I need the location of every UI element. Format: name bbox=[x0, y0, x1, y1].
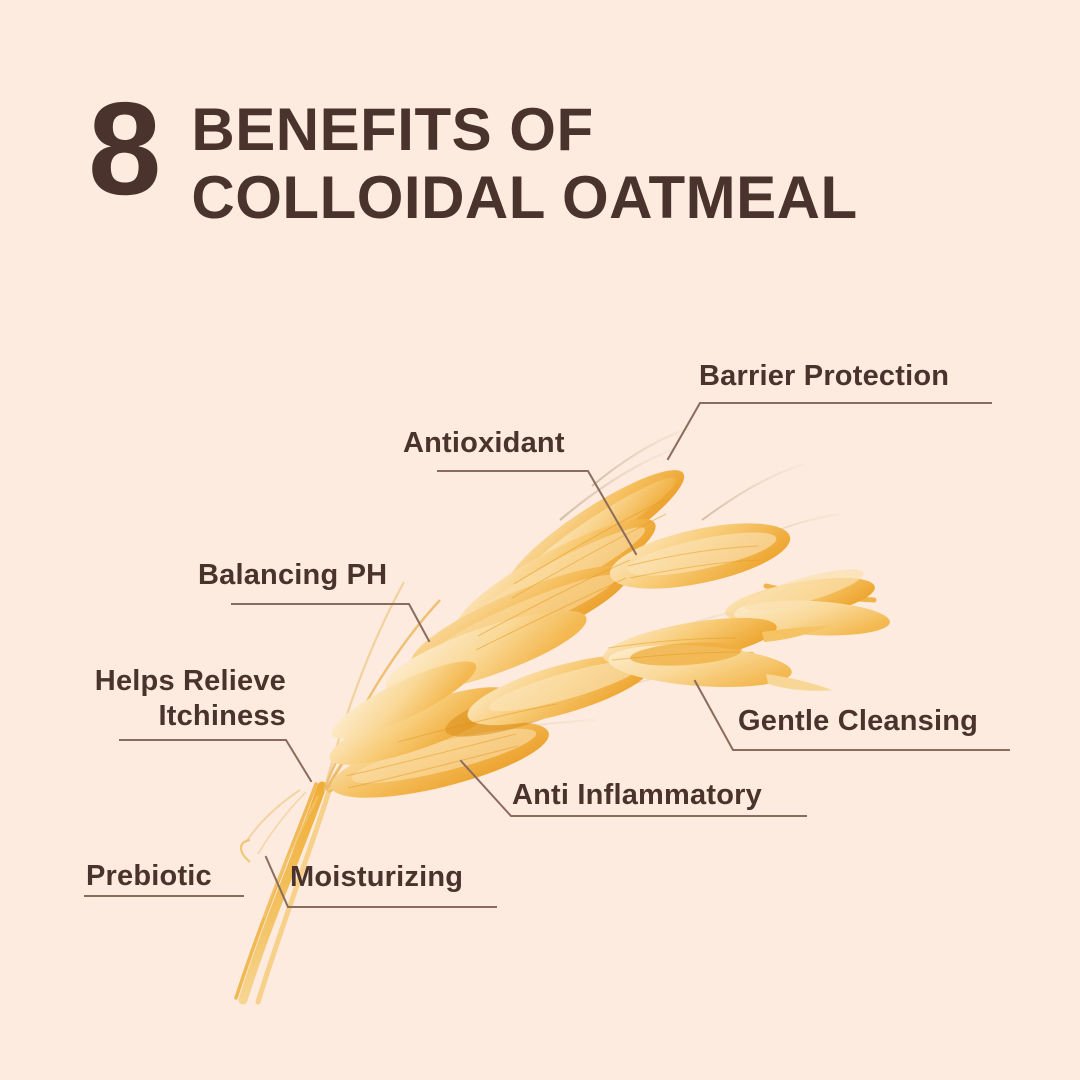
benefit-label-moisturizing[interactable]: Moisturizing bbox=[290, 861, 463, 894]
benefit-label-helps-relieve-itchiness[interactable]: Helps Relieve Itchiness bbox=[58, 664, 286, 734]
benefit-label-prebiotic[interactable]: Prebiotic bbox=[86, 860, 212, 893]
benefit-label-barrier-protection[interactable]: Barrier Protection bbox=[699, 360, 949, 393]
benefit-label-gentle-cleansing[interactable]: Gentle Cleansing bbox=[738, 705, 978, 738]
leader-barrier-protection bbox=[668, 403, 991, 459]
leader-antioxidant bbox=[438, 471, 636, 554]
benefit-label-anti-inflammatory[interactable]: Anti Inflammatory bbox=[512, 779, 762, 812]
leader-lines bbox=[0, 0, 1080, 1080]
benefit-label-balancing-ph[interactable]: Balancing PH bbox=[198, 559, 387, 592]
leader-balancing-ph bbox=[232, 604, 429, 641]
benefit-label-line-2: Itchiness bbox=[158, 700, 286, 732]
benefit-label-antioxidant[interactable]: Antioxidant bbox=[403, 427, 565, 460]
benefit-label-line-1: Helps Relieve bbox=[95, 665, 286, 697]
infographic-canvas: 8 BENEFITS OF COLLOIDAL OATMEAL bbox=[0, 0, 1080, 1080]
leader-helps-relieve-itchiness bbox=[120, 740, 311, 781]
